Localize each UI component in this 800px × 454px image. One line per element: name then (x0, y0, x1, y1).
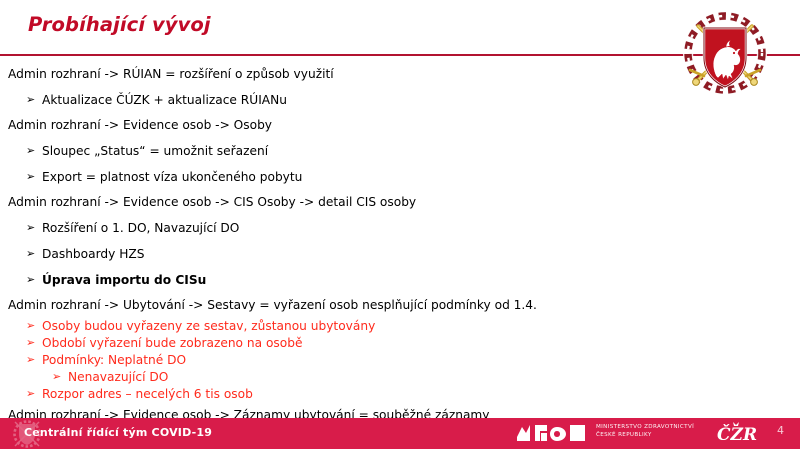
arrow-bullet-icon: ➢ (52, 371, 68, 382)
body-line-text: Období vyřazení bude zobrazeno na osobě (42, 337, 302, 349)
footer-title: Centrální řídící tým COVID-19 (24, 426, 212, 439)
body-line: ➢ Rozšíření o 1. DO, Navazující DO (0, 215, 800, 241)
arrow-bullet-icon: ➢ (26, 320, 42, 331)
page-title: Probíhající vývoj (28, 13, 211, 36)
body-line: Admin rozhraní -> Evidence osob -> CIS O… (0, 190, 800, 215)
body-line-text: Úprava importu do CISu (42, 274, 206, 286)
arrow-bullet-icon: ➢ (26, 94, 42, 105)
body-line-text: Rozšíření o 1. DO, Navazující DO (42, 222, 239, 234)
body-line: ➢ Export = platnost víza ukončeného poby… (0, 164, 800, 190)
svg-text:ČZR: ČZR (717, 424, 757, 445)
body-line-text: Sloupec „Status“ = umožnit seřazení (42, 145, 268, 157)
body-line-text: Admin rozhraní -> RÚIAN = rozšíření o zp… (8, 68, 334, 80)
body-line: ➢ Období vyřazení bude zobrazeno na osob… (0, 335, 800, 352)
body-line: ➢ Osoby budou vyřazeny ze sestav, zůstan… (0, 318, 800, 335)
ministry-name-line1: MINISTERSTVO ZDRAVOTNICTVÍ (596, 423, 694, 431)
body-line-text: Osoby budou vyřazeny ze sestav, zůstanou… (42, 320, 375, 332)
body-line-text: Podmínky: Neplatné DO (42, 354, 186, 366)
body-line: Admin rozhraní -> Evidence osob -> Osoby (0, 113, 800, 138)
body-line-text: Dashboardy HZS (42, 248, 144, 260)
arrow-bullet-icon: ➢ (26, 388, 42, 399)
arrow-bullet-icon: ➢ (26, 171, 42, 182)
ministry-name-line2: ČESKÉ REPUBLIKY (596, 431, 694, 439)
body-line-text: Aktualizace ČÚZK + aktualizace RÚIANu (42, 94, 287, 106)
body-line-text: Admin rozhraní -> Evidence osob -> Osoby (8, 119, 272, 131)
body-line: ➢ Nenavazující DO (0, 369, 800, 386)
body-line-text: Admin rozhraní -> Ubytování -> Sestavy =… (8, 299, 537, 311)
arrow-bullet-icon: ➢ (26, 145, 42, 156)
body-line-text: Rozpor adres – necelých 6 tis osob (42, 388, 253, 400)
page-number: 4 (777, 424, 784, 437)
arrow-bullet-icon: ➢ (26, 354, 42, 365)
arrow-bullet-icon: ➢ (26, 248, 42, 259)
body-line: ➢ Dashboardy HZS (0, 241, 800, 267)
body-line: ➢ Úprava importu do CISu (0, 267, 800, 293)
body-line-text: Export = platnost víza ukončeného pobytu (42, 171, 302, 183)
body-line: ➢ Sloupec „Status“ = umožnit seřazení (0, 138, 800, 164)
arrow-bullet-icon: ➢ (26, 274, 42, 285)
body-line: ➢ Aktualizace ČÚZK + aktualizace RÚIANu (0, 87, 800, 113)
arrow-bullet-icon: ➢ (26, 222, 42, 233)
body-line: ➢ Podmínky: Neplatné DO (0, 352, 800, 369)
body-line-text: Nenavazující DO (68, 371, 168, 383)
arrow-bullet-icon: ➢ (26, 337, 42, 348)
slide-body: Admin rozhraní -> RÚIAN = rozšíření o zp… (0, 62, 800, 454)
body-line: ➢ Rozpor adres – necelých 6 tis osob (0, 386, 800, 403)
ministry-name: MINISTERSTVO ZDRAVOTNICTVÍ ČESKÉ REPUBLI… (596, 423, 694, 439)
body-line-text: Admin rozhraní -> Evidence osob -> CIS O… (8, 196, 416, 208)
body-line: Admin rozhraní -> RÚIAN = rozšíření o zp… (0, 62, 800, 87)
czr-logo-icon: ČZR (716, 420, 764, 446)
body-line: Admin rozhraní -> Ubytování -> Sestavy =… (0, 293, 800, 318)
ministry-logo-icon (516, 421, 588, 445)
